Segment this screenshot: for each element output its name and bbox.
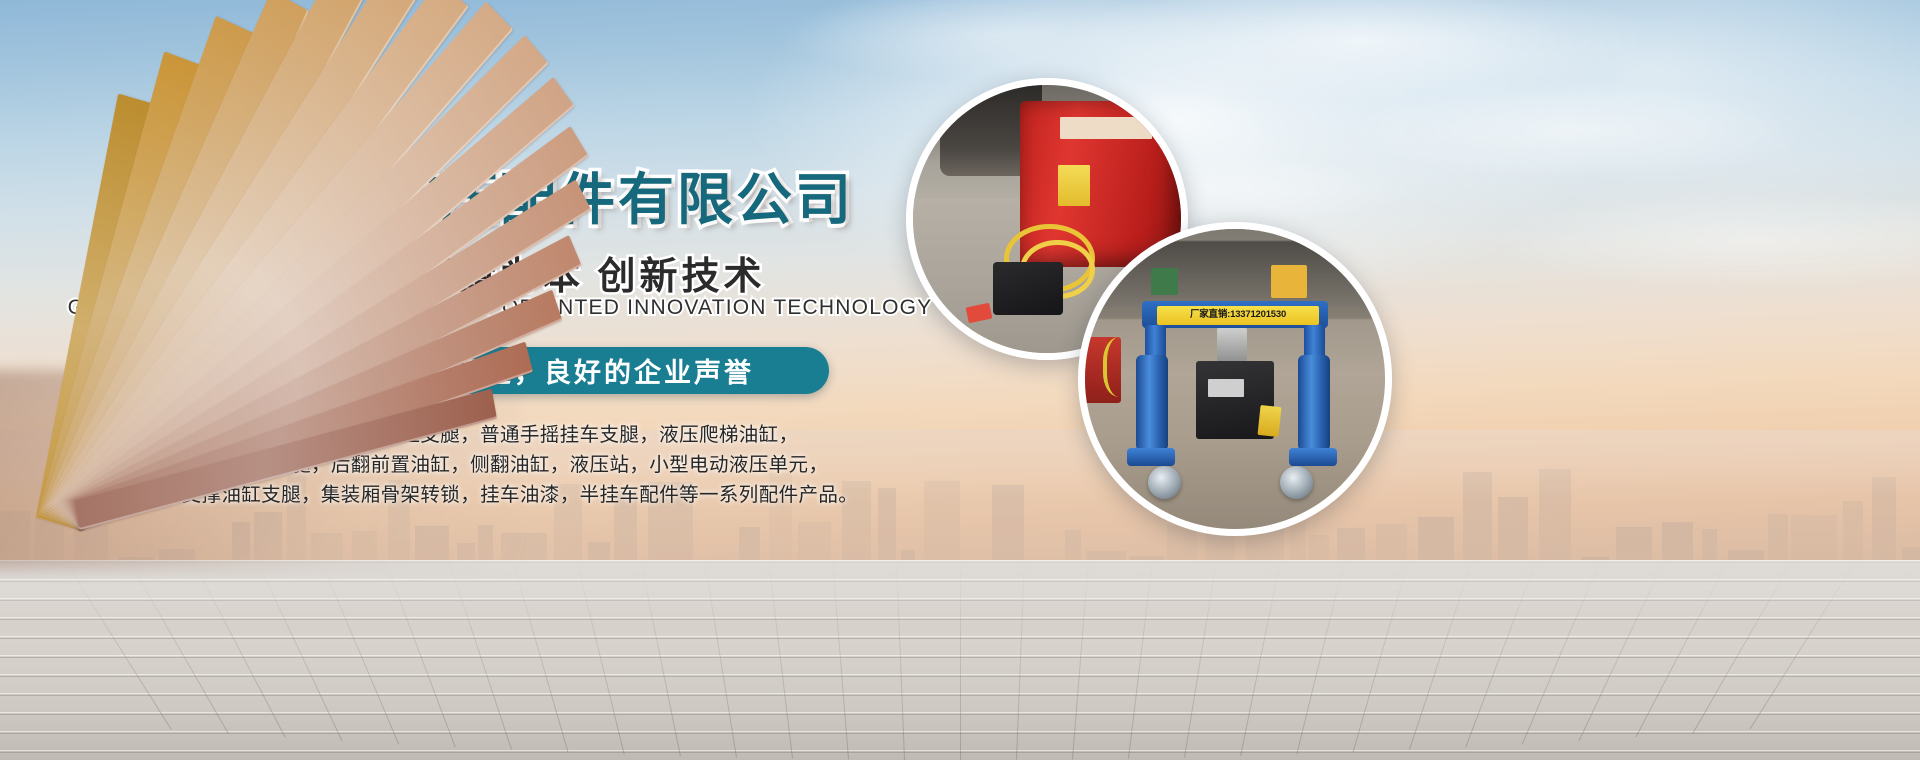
photo2-handle bbox=[1217, 328, 1247, 364]
hero-banner: 厂家直销:13371201530 梁山转运液压配件有限公司 诚信合作 质量为本 … bbox=[0, 0, 1920, 760]
photo2-green-equipment bbox=[1151, 268, 1178, 295]
paver-line bbox=[1409, 560, 1473, 750]
paver-line bbox=[960, 560, 961, 760]
photo1-motor bbox=[993, 262, 1063, 316]
photo1-yellow-sticker bbox=[1058, 165, 1090, 205]
photo2-cylinder-left bbox=[1136, 355, 1168, 451]
photo2-foot-left bbox=[1127, 448, 1175, 466]
photo2-foot-right bbox=[1289, 448, 1337, 466]
paver-line bbox=[1240, 560, 1281, 756]
photo2-box-label bbox=[1208, 379, 1244, 397]
paver-line bbox=[1465, 560, 1537, 747]
paver-line bbox=[1750, 560, 1857, 730]
paver-line bbox=[1353, 560, 1409, 752]
plaza-ground bbox=[0, 560, 1920, 760]
paver-line bbox=[1579, 560, 1665, 741]
paver-line bbox=[1296, 560, 1345, 754]
photo2-cylinder-right bbox=[1298, 355, 1330, 451]
paver-line bbox=[1692, 560, 1793, 734]
paver-line bbox=[1128, 560, 1153, 759]
photo2-yellow-tag bbox=[1257, 405, 1281, 437]
photo2-phone-sign: 厂家直销:13371201530 bbox=[1157, 306, 1319, 325]
photo-blue-hydraulic-unit[interactable]: 厂家直销:13371201530 bbox=[1078, 222, 1392, 536]
paver-line bbox=[1635, 560, 1729, 737]
paver-line bbox=[1016, 560, 1025, 760]
paver-line bbox=[1184, 560, 1217, 758]
paver-line bbox=[896, 560, 905, 760]
paver-line bbox=[1072, 560, 1089, 759]
photo2-caster-left bbox=[1148, 466, 1181, 499]
photo1-red-label bbox=[1060, 117, 1151, 138]
photo2-phone-sign-text: 厂家直销:13371201530 bbox=[1190, 310, 1286, 320]
photo2-yellow-equipment bbox=[1271, 265, 1307, 298]
photo2-caster-right bbox=[1280, 466, 1313, 499]
